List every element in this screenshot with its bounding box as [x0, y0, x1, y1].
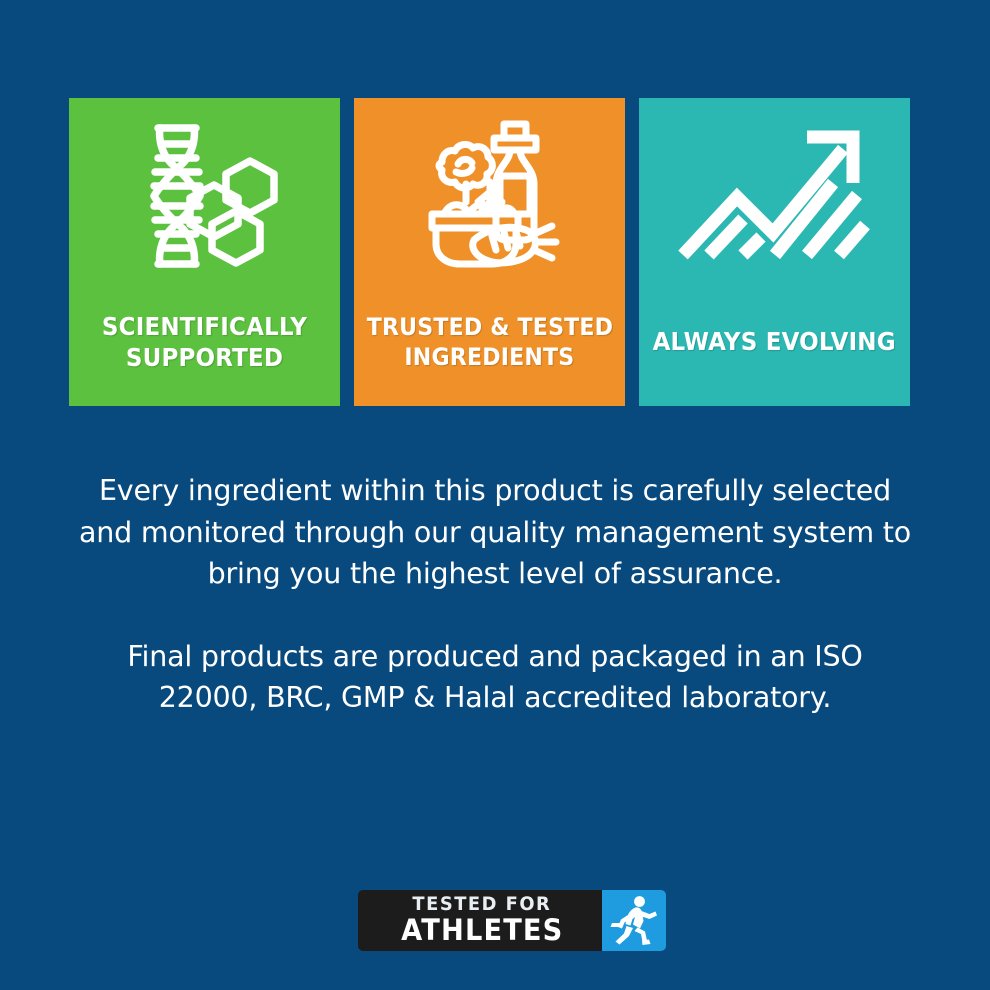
- copy-paragraph-1: Every ingredient within this product is …: [75, 470, 915, 595]
- dna-molecule-icon: [69, 98, 340, 288]
- card-label-line: SCIENTIFICALLY: [102, 311, 307, 343]
- badge-line-athletes: ATHLETES: [401, 915, 563, 945]
- card-label-line: SUPPORTED: [126, 342, 283, 374]
- badge-text-panel: TESTED FOR ATHLETES: [358, 890, 602, 951]
- tested-for-athletes-badge: TESTED FOR ATHLETES: [358, 890, 666, 951]
- growth-arrow-chart-icon: [639, 98, 910, 288]
- card-label-scientifically-supported: SCIENTIFICALLY SUPPORTED: [69, 288, 340, 406]
- card-label-line: TRUSTED & TESTED: [366, 312, 612, 342]
- card-label-line: ALWAYS EVOLVING: [653, 326, 896, 358]
- feature-card-scientifically-supported: SCIENTIFICALLY SUPPORTED: [69, 98, 340, 406]
- feature-card-always-evolving: ALWAYS EVOLVING: [639, 98, 910, 406]
- feature-card-row: SCIENTIFICALLY SUPPORTED: [69, 98, 912, 406]
- card-label-always-evolving: ALWAYS EVOLVING: [639, 288, 910, 406]
- copy-paragraph-2: Final products are produced and packaged…: [75, 636, 915, 719]
- card-label-trusted-tested-ingredients: TRUSTED & TESTED INGREDIENTS: [354, 288, 625, 406]
- card-label-line: INGREDIENTS: [405, 342, 575, 372]
- body-copy: Every ingredient within this product is …: [75, 470, 915, 719]
- vegetable-basket-bottle-icon: [354, 98, 625, 288]
- badge-line-tested-for: TESTED FOR: [413, 895, 552, 914]
- feature-card-trusted-tested-ingredients: TRUSTED & TESTED INGREDIENTS: [354, 98, 625, 406]
- running-athlete-icon: [602, 890, 666, 951]
